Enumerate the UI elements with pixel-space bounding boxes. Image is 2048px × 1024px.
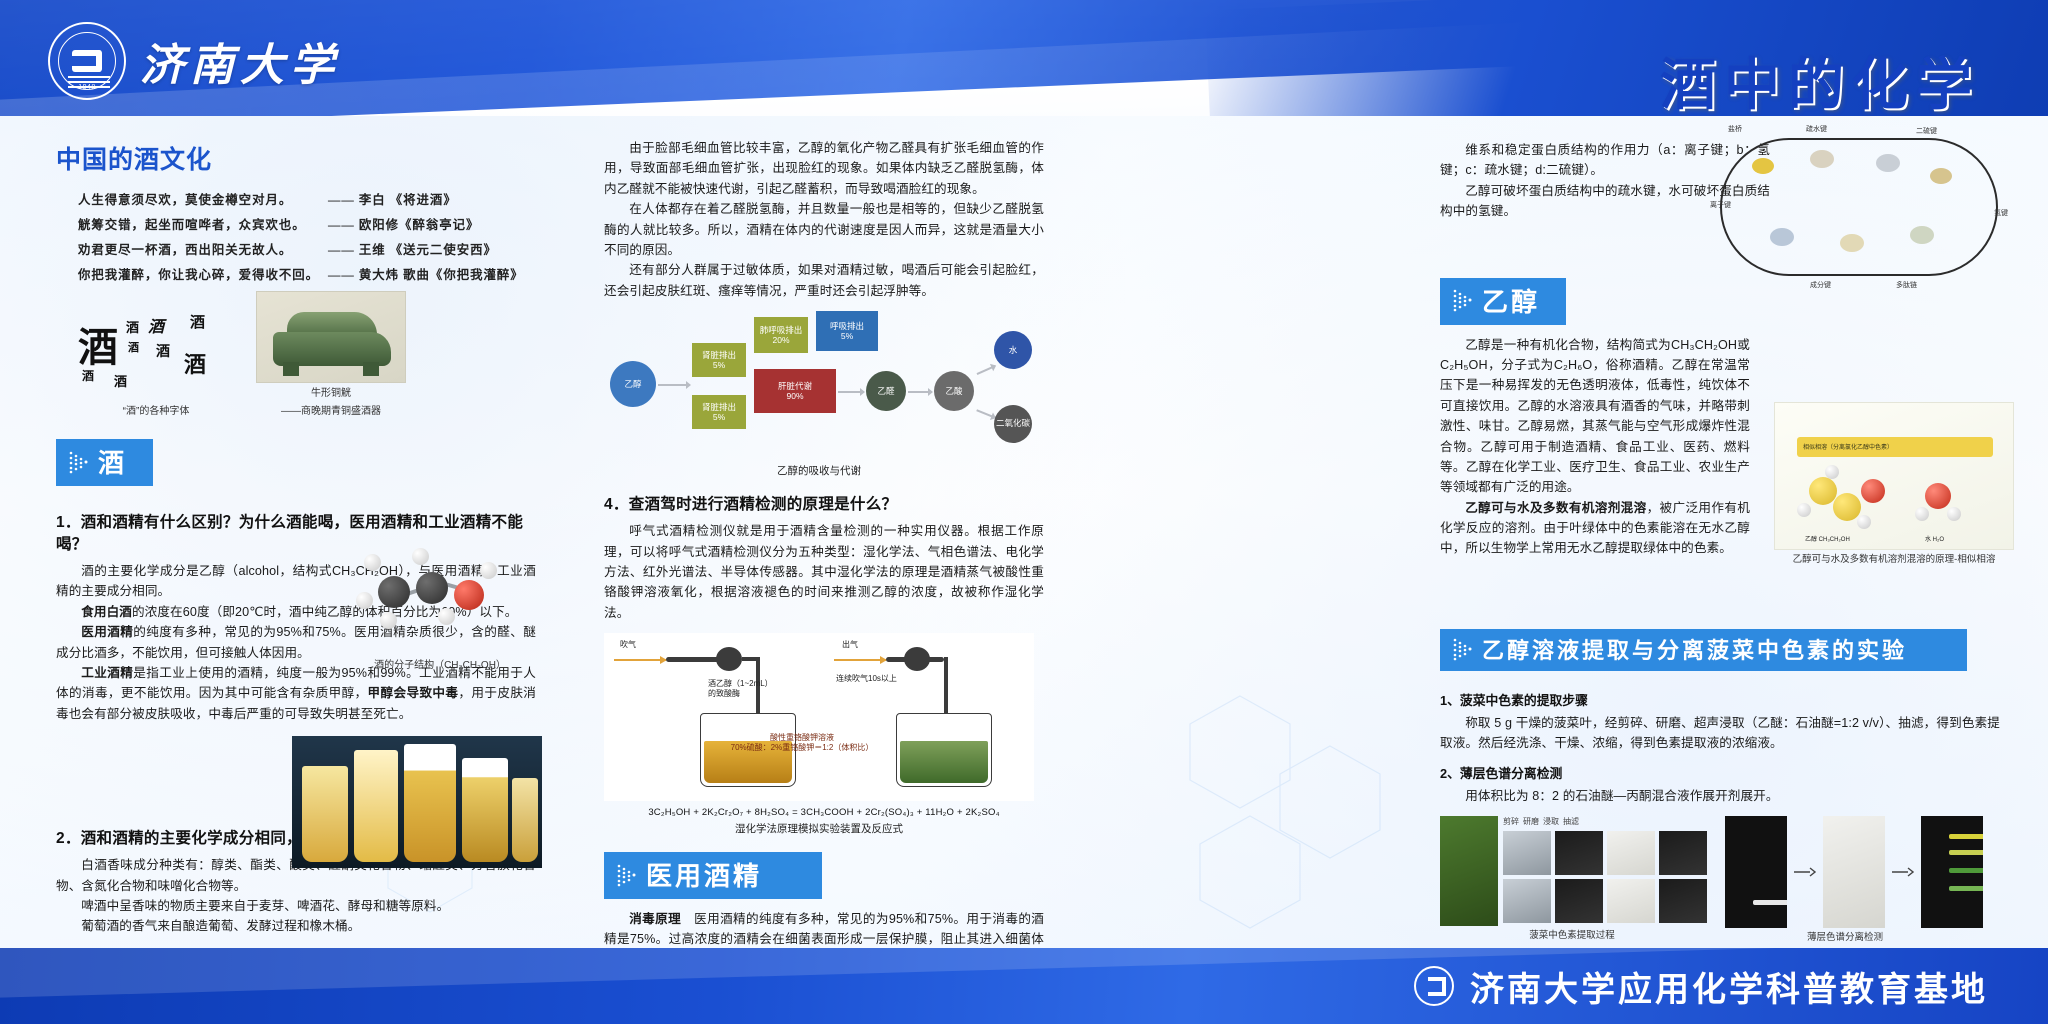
calligraphy-glyph: 酒 xyxy=(78,315,118,373)
flow-arrow xyxy=(977,365,996,375)
dot-arrow-icon xyxy=(616,863,638,887)
bronze-caption-line2: ——商晚期青铜盛酒器 xyxy=(256,405,406,419)
university-name: 济南大学 xyxy=(140,29,340,93)
footer-label: 济南大学应用化学科普教育基地 xyxy=(1470,962,1988,1011)
university-logo-group: 1948 济南大学 xyxy=(48,22,340,100)
reagent-bottle-right xyxy=(896,713,992,787)
flow-arrow xyxy=(976,409,995,418)
flow-node-value: 20% xyxy=(772,335,789,346)
oxygen-atom xyxy=(454,580,484,610)
hydrogen-atom xyxy=(412,548,429,565)
ring-label: 氢键 xyxy=(1994,208,2008,218)
apparatus-label-blow-in: 吹气 xyxy=(620,639,636,650)
oxygen-atom xyxy=(1861,479,1885,503)
hydrogen-atom xyxy=(1947,507,1961,521)
section-banner-medical-alcohol: 医用酒精 xyxy=(604,852,822,899)
flow-node-kidney-2: 肾脏排出 5% xyxy=(692,395,746,429)
chromatography-photo-group: 薄层色谱分离检测 xyxy=(1725,816,1983,945)
left-column: 中国的酒文化 人生得意须尽欢，莫使金樽空对月。 —— 李白 《将进酒》 觥筹交错… xyxy=(56,140,536,1024)
flow-node-label: 肺呼吸排出 xyxy=(760,325,803,336)
poem-attribution: —— 李白 《将进酒》 xyxy=(328,190,518,208)
poem-line: 你把我灌醉，你让我心碎，爱得收不回。 xyxy=(78,265,328,283)
lab-photo-2 xyxy=(1503,879,1551,923)
extraction-photo-strip-top: 剪碎 研磨 浸取 抽滤 xyxy=(1440,816,1707,926)
jiu-paragraph-7: 葡萄酒的香气来自酿造葡萄、发酵过程和橡木桶。 xyxy=(56,916,536,936)
extraction-photo-strip xyxy=(1503,831,1707,875)
calligraphy-glyph: 酒 xyxy=(82,367,94,384)
jinan-emblem-icon xyxy=(1414,966,1454,1006)
extraction-photo-group: 剪碎 研磨 浸取 抽滤 xyxy=(1440,816,1707,945)
bold-term-miscible: 乙醇可与水及多数有机溶剂混溶 xyxy=(1465,501,1646,515)
calligraphy-glyph: 酒 xyxy=(184,347,206,379)
downpipe-right xyxy=(944,657,948,713)
hydrogen-atom xyxy=(1857,515,1871,529)
apparatus-label-connect: 连续吹气10s以上 xyxy=(836,673,897,684)
ethanol-water-caption: 乙醇可与水及多数有机溶剂混溶的原理-相似相溶 xyxy=(1774,554,2014,567)
oxygen-atom-water xyxy=(1925,483,1951,509)
flow-node-label: 水 xyxy=(1009,345,1018,356)
breath-test-apparatus-diagram: 吹气 出气 酒乙醇（1~2mL） 的致酸酶 连续吹气10s以上 酸性重铬酸钾溶液… xyxy=(604,633,1034,801)
protein-structure-figure: 盐桥 疏水键 二硫键 离子键 氢键 成分键 多肽链 xyxy=(1710,124,2010,292)
calligraphy-glyph: 酒 xyxy=(190,311,205,332)
residue-blob xyxy=(1930,168,1952,184)
flow-node-label: 肝脏代谢 xyxy=(778,381,812,392)
ethanol-molecule-figure: 酒的分子结构（CH₃CH₂OH） xyxy=(350,538,530,671)
carbon-atom xyxy=(1809,477,1837,505)
flow-node-value: 5% xyxy=(841,331,853,342)
section-banner-label: 酒 xyxy=(98,443,127,480)
page-footer: 济南大学应用化学科普教育基地 xyxy=(0,948,2048,1024)
metabolism-flow-diagram: 乙醇 肾脏排出 5% 肾脏排出 5% 肺呼吸排出 20% 呼吸排出 5% 肝脏代… xyxy=(604,309,1034,459)
apparatus-label-sample: 酒乙醇（1~2mL） 的致酸酶 xyxy=(708,679,778,699)
flow-node-acetaldehyde: 乙醛 xyxy=(866,371,906,411)
apparatus-label-out: 出气 xyxy=(842,639,858,650)
section-banner-label: 乙醇溶液提取与分离菠菜中色素的实验 xyxy=(1482,633,1907,665)
step-label-2: 研磨 xyxy=(1523,816,1539,827)
seal-chevron-icon xyxy=(72,50,102,72)
section-banner-extraction: 乙醇溶液提取与分离菠菜中色素的实验 xyxy=(1440,629,1967,671)
ring-label: 盐桥 xyxy=(1728,124,1742,134)
flow-node-co2: 二氧化碳 xyxy=(994,405,1032,443)
tlc-band-carotene xyxy=(1949,834,1983,839)
experiment-photos-row: 剪碎 研磨 浸取 抽滤 xyxy=(1440,816,2000,945)
footer-content: 济南大学应用化学科普教育基地 xyxy=(1414,948,1988,1024)
poem-line: 劝君更尽一杯酒，西出阳关无故人。 xyxy=(78,240,328,258)
beer-glass xyxy=(354,750,398,862)
flow-node-value: 5% xyxy=(713,412,725,423)
bronze-caption-line1: 牛形铜觥 xyxy=(256,387,406,401)
bold-term-baijiu: 食用白酒 xyxy=(81,605,132,619)
flow-node-value: 90% xyxy=(786,391,803,402)
strip-label: 相似相溶（分离氯化乙醇中色素） xyxy=(1803,442,1893,451)
mol-label-water: 水 H₂O xyxy=(1925,534,1944,543)
step-label-4: 抽滤 xyxy=(1563,816,1579,827)
flow-node-lung: 肺呼吸排出 20% xyxy=(754,317,808,353)
protein-ring-diagram: 盐桥 疏水键 二硫键 离子键 氢键 成分键 多肽链 xyxy=(1710,124,2010,292)
tlc-band-chlorophyll-a xyxy=(1949,868,1983,873)
ring-label: 疏水键 xyxy=(1806,124,1827,134)
step-label-3: 浸取 xyxy=(1543,816,1559,827)
extract-step-1-body: 称取 5 g 干燥的菠菜叶，经剪碎、研磨、超声浸取（乙醚：石油醚=1:2 v/v… xyxy=(1440,713,2000,754)
valve-bulb-2 xyxy=(904,647,930,671)
bold-term-industrial-alcohol: 工业酒精 xyxy=(81,666,133,680)
dot-arrow-icon xyxy=(68,450,90,474)
molecule-caption: 酒的分子结构（CH₃CH₂OH） xyxy=(350,656,530,671)
residue-blob xyxy=(1752,158,1774,174)
flow-node-acetic-acid: 乙酸 xyxy=(934,371,974,411)
hydrogen-atom xyxy=(356,592,373,609)
chromatography-strip xyxy=(1725,816,1983,928)
valve-bulb xyxy=(716,647,742,671)
tlc-band-chlorophyll-b xyxy=(1949,886,1983,891)
section-banner-ethanol: 乙醇 xyxy=(1440,278,1566,325)
extraction-photo-caption: 菠菜中色素提取过程 xyxy=(1440,930,1704,943)
ethanol-water-image: 相似相溶（分离氯化乙醇中色素） 乙醇 CH₃CH₂OH 水 H₂O xyxy=(1774,402,2014,550)
poem-line: 人生得意须尽欢，莫使金樽空对月。 xyxy=(78,190,328,208)
beer-glass xyxy=(512,778,538,862)
beer-glass xyxy=(302,766,348,862)
flow-node-label: 乙醛 xyxy=(877,386,894,397)
dot-arrow-icon xyxy=(1452,637,1474,661)
vessel-foot-right xyxy=(363,362,379,376)
soaking-photo xyxy=(1607,831,1655,875)
beer-glass-with-foam xyxy=(404,744,456,862)
flow-node-label: 肾脏排出 xyxy=(702,350,736,361)
arrow-right-icon xyxy=(1794,866,1816,878)
flow-node-label: 二氧化碳 xyxy=(996,419,1030,428)
flow-arrow xyxy=(838,391,864,393)
university-seal-icon: 1948 xyxy=(48,22,126,100)
lab-photo-4 xyxy=(1607,879,1655,923)
step-label-1: 剪碎 xyxy=(1503,816,1519,827)
tlc-band-xanthophyll xyxy=(1949,850,1983,855)
dot-arrow-icon xyxy=(1452,288,1474,312)
developing-chamber-photo xyxy=(1823,816,1885,928)
flow-arrow xyxy=(908,391,932,393)
extract-step-1-title: 1、菠菜中色素的提取步骤 xyxy=(1440,690,2000,709)
tlc-band xyxy=(1753,900,1787,905)
bold-term-methanol-poison: 甲醇会导致中毒 xyxy=(368,686,459,700)
residue-blob xyxy=(1810,150,1834,168)
apparatus-arrow-out xyxy=(834,659,886,661)
hydrogen-atom xyxy=(1797,503,1811,517)
grinding-photo xyxy=(1555,831,1603,875)
calligraphy-glyph: 酒 xyxy=(128,339,139,355)
flow-node-water: 水 xyxy=(994,331,1032,369)
page-header: 1948 济南大学 酒中的化学 xyxy=(0,0,2048,122)
lab-photo xyxy=(1503,831,1551,875)
ethanol-paragraph-2: 乙醇可与水及多数有机溶剂混溶，被广泛用作有机化学反应的溶剂。由于叶绿体中的色素能… xyxy=(1440,498,1750,559)
flow-node-kidney-1: 肾脏排出 5% xyxy=(692,343,746,377)
right-column: 维系和稳定蛋白质结构的作用力（a：离子键；b：氢键；c：疏水键；d:二硫键）。 … xyxy=(1440,140,2000,1024)
calligraphy-glyph: 酒 xyxy=(148,313,164,337)
ring-label: 离子键 xyxy=(1710,200,1731,210)
apparatus-equation: 3C₂H₅OH + 2K₂Cr₂O₇ + 8H₂SO₄ = 3CH₃COOH +… xyxy=(604,807,1044,818)
flow-node-label: 呼吸排出 xyxy=(830,321,864,332)
extract-step-2-body: 用体积比为 8：2 的石油醚—丙酮混合液作展开剂展开。 xyxy=(1440,786,2000,806)
mol-label-ethanol: 乙醇 CH₃CH₂OH xyxy=(1805,534,1850,543)
flow-diagram-caption: 乙醇的吸收与代谢 xyxy=(604,463,1034,478)
hydrogen-atom xyxy=(438,608,455,625)
hydrogen-atom xyxy=(364,554,381,571)
flow-node-label: 乙酸 xyxy=(945,386,962,397)
seal-year: 1948 xyxy=(50,84,124,91)
hydrogen-atom xyxy=(380,612,397,629)
flow-node-breath: 呼吸排出 5% xyxy=(816,311,878,351)
reagent-liquid-right xyxy=(900,741,988,783)
calligraphy-caption: “酒”的各种字体 xyxy=(78,405,234,419)
extract-step-2-title: 2、薄层色谱分离检测 xyxy=(1440,763,2000,782)
poem-attribution: —— 欧阳修《醉翁亭记》 xyxy=(328,215,518,233)
hexagon-decoration-icon xyxy=(1180,676,1440,936)
hydrogen-atom xyxy=(1825,465,1839,479)
poem-item: 觥筹交错，起坐而喧哗者，众宾欢也。 —— 欧阳修《醉翁亭记》 xyxy=(78,215,536,233)
carbon-atom xyxy=(1833,493,1861,521)
residue-blob xyxy=(1910,226,1934,244)
jiu-paragraph-4: 工业酒精是指工业上使用的酒精，纯度一般为95%和99%。工业酒精不能用于人体的消… xyxy=(56,663,536,724)
ring-label: 成分键 xyxy=(1810,280,1831,290)
ethanol-molecule-image xyxy=(350,538,530,656)
flow-node-value: 5% xyxy=(713,360,725,371)
poem-attribution: —— 黄大炜 歌曲《你把我灌醉》 xyxy=(328,265,518,283)
extraction-photo-strip-2 xyxy=(1503,879,1707,923)
flow-node-label: 肾脏排出 xyxy=(702,402,736,413)
beer-glasses-image xyxy=(292,736,542,868)
poem-list: 人生得意须尽欢，莫使金樽空对月。 —— 李白 《将进酒》 觥筹交错，起坐而喧哗者… xyxy=(78,190,536,283)
poem-attribution: —— 王维 《送元二使安西》 xyxy=(328,240,518,258)
mid-paragraph-4: 呼气式酒精检测仪就是用于酒精含量检测的一种实用仪器。根据工作原理，可以将呼气式酒… xyxy=(604,521,1044,623)
bronze-figure: 牛形铜觥 ——商晚期青铜盛酒器 xyxy=(256,291,406,419)
bold-term-disinfect-principle: 消毒原理 xyxy=(629,912,681,926)
residue-blob xyxy=(1876,154,1900,172)
tlc-plate-after xyxy=(1921,816,1983,928)
calligraphy-variants-image: 酒 酒 酒 酒 酒 酒 酒 酒 酒 xyxy=(78,309,234,401)
jiu-paragraph-6: 啤酒中呈香味的物质主要来自于麦芽、啤酒花、酵母和糖等原料。 xyxy=(56,896,536,916)
apparatus-label-reagent: 酸性重铬酸钾溶液 70%硫酸：2%重铬酸钾＝1:2（体积比） xyxy=(714,733,890,754)
carbon-atom xyxy=(416,572,448,604)
tlc-plate-before xyxy=(1725,816,1787,928)
vessel-foot-left xyxy=(283,362,299,376)
extraction-steps-column: 剪碎 研磨 浸取 抽滤 xyxy=(1503,816,1707,923)
ethanol-water-figure: 相似相溶（分离氯化乙醇中色素） 乙醇 CH₃CH₂OH 水 H₂O 乙醇可与水及… xyxy=(1774,402,2014,567)
poem-item: 劝君更尽一杯酒，西出阳关无故人。 —— 王维 《送元二使安西》 xyxy=(78,240,536,258)
culture-figure-row: 酒 酒 酒 酒 酒 酒 酒 酒 酒 “酒”的各种字体 牛形铜觥 ——商晚期青铜盛… xyxy=(78,291,536,419)
ethanol-paragraph-1: 乙醇是一种有机化合物，结构简式为CH₃CH₂OH或C₂H₅OH，分子式为C₂H₆… xyxy=(1440,335,1750,498)
section-banner-label: 乙醇 xyxy=(1482,282,1540,319)
flow-node-ethanol: 乙醇 xyxy=(610,361,656,407)
bronze-vessel-image xyxy=(256,291,406,383)
beer-glass-with-foam xyxy=(462,758,508,862)
calligraphy-glyph: 酒 xyxy=(156,341,170,361)
vessel-body xyxy=(273,332,391,366)
filtering-photo xyxy=(1659,831,1707,875)
poem-line: 觥筹交错，起坐而喧哗者，众宾欢也。 xyxy=(78,215,328,233)
mid-paragraph-3: 还有部分人群属于过敏体质，如果对酒精过敏，喝酒后可能会引起脸红，还会引起皮肤红斑… xyxy=(604,260,1044,301)
bold-term-medical-alcohol: 医用酒精 xyxy=(81,625,133,639)
ring-label: 二硫键 xyxy=(1916,126,1937,136)
culture-section-title: 中国的酒文化 xyxy=(56,140,536,176)
mid-paragraph-1: 由于脸部毛细血管比较丰富，乙醇的氧化产物乙醛具有扩张毛细血管的作用，导致面部毛细… xyxy=(604,138,1044,199)
poem-item: 你把我灌醉，你让我心碎，爱得收不回。 —— 黄大炜 歌曲《你把我灌醉》 xyxy=(78,265,536,283)
calligraphy-figure: 酒 酒 酒 酒 酒 酒 酒 酒 酒 “酒”的各种字体 xyxy=(78,309,234,419)
step-arrow-row: 剪碎 研磨 浸取 抽滤 xyxy=(1503,816,1707,827)
mid-paragraph-2: 在人体都存在着乙醛脱氢酶，并且数量一般也是相等的，但缺少乙醛脱氢酶的人就比较多。… xyxy=(604,199,1044,260)
apparatus-caption: 湿化学法原理模拟实验装置及反应式 xyxy=(604,821,1034,836)
spinach-leaves-photo xyxy=(1440,816,1498,926)
lab-photo-3 xyxy=(1555,879,1603,923)
question-4: 4．查酒驾时进行酒精检测的原理是什么？ xyxy=(604,492,1044,514)
section-banner-label: 医用酒精 xyxy=(646,856,762,893)
ring-label: 多肽链 xyxy=(1896,280,1917,290)
flow-node-label: 乙醇 xyxy=(624,379,641,390)
page-title: 酒中的化学 xyxy=(1660,40,1980,121)
poem-item: 人生得意须尽欢，莫使金樽空对月。 —— 李白 《将进酒》 xyxy=(78,190,536,208)
hydrogen-atom xyxy=(1915,507,1929,521)
hydrogen-atom xyxy=(480,562,497,579)
residue-blob xyxy=(1770,228,1794,246)
apparatus-arrow-in xyxy=(614,659,666,661)
arrow-right-icon-2 xyxy=(1892,866,1914,878)
flow-arrow xyxy=(658,384,690,386)
middle-column-top: 由于脸部毛细血管比较丰富，乙醇的氧化产物乙醛具有扩张毛细血管的作用，导致面部毛细… xyxy=(604,138,1044,1024)
section-banner-jiu: 酒 xyxy=(56,439,153,486)
calligraphy-glyph: 酒 xyxy=(126,317,139,336)
calligraphy-glyph: 酒 xyxy=(114,371,127,390)
beer-photo-figure xyxy=(292,736,542,868)
carbon-atom xyxy=(378,576,410,608)
residue-blob xyxy=(1840,234,1864,252)
lab-photo-5 xyxy=(1659,879,1707,923)
flow-node-liver: 肝脏代谢 90% xyxy=(754,369,836,413)
chromatography-caption: 薄层色谱分离检测 xyxy=(1725,932,1965,945)
